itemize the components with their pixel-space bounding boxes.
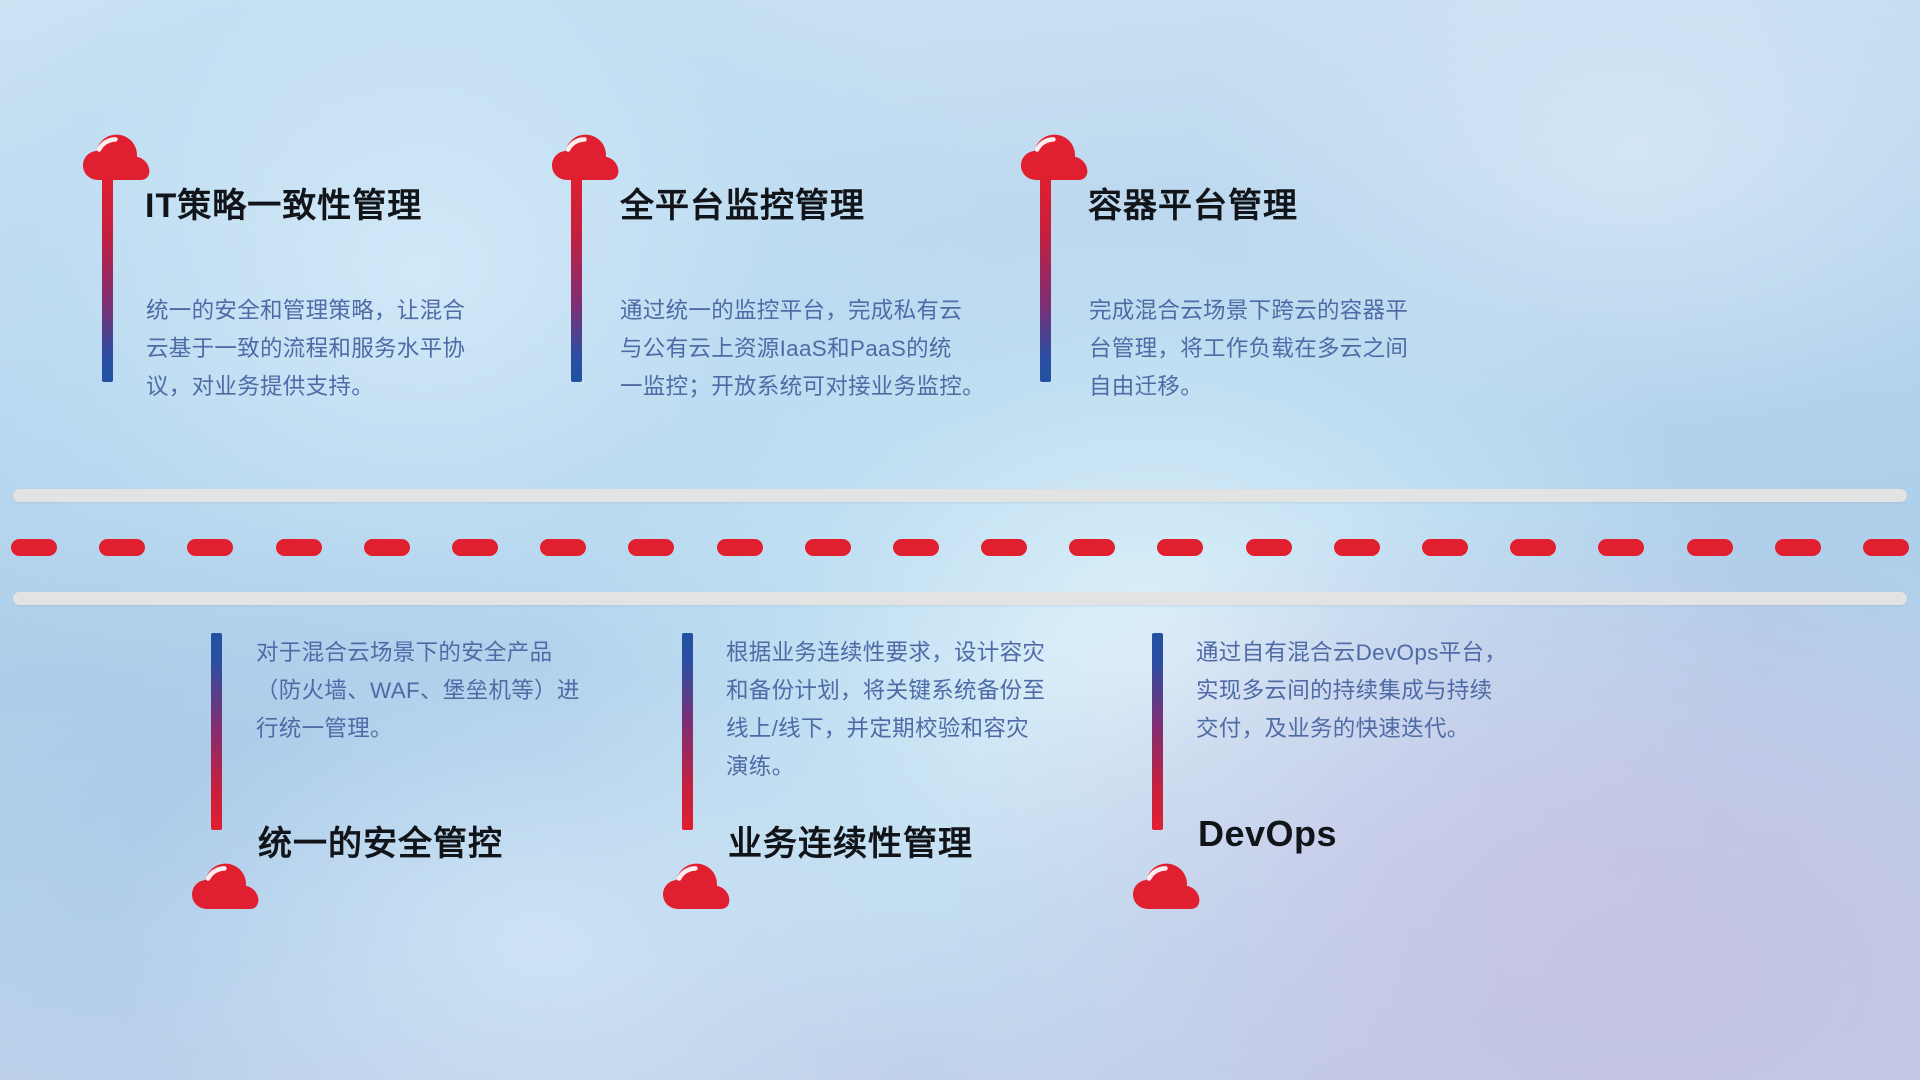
bottom-item-title: DevOps (1198, 813, 1337, 855)
road-dash (628, 539, 674, 556)
road-dash (11, 539, 57, 556)
road-dash (1422, 539, 1468, 556)
top-item-title: 容器平台管理 (1088, 178, 1298, 227)
road-dash (1510, 539, 1556, 556)
road-dash (187, 539, 233, 556)
road-dash (981, 539, 1027, 556)
top-item-description: 通过统一的监控平台，完成私有云 与公有云上资源IaaS和PaaS的统 一监控；开… (620, 292, 1015, 406)
connector-line (102, 176, 113, 382)
bottom-item-title: 业务连续性管理 (728, 816, 973, 865)
road-dash-strip (11, 539, 1909, 556)
road-dash (1157, 539, 1203, 556)
cloud-icon (1132, 862, 1202, 910)
road-dash (1775, 539, 1821, 556)
bottom-item-title: 统一的安全管控 (258, 816, 503, 865)
road-dash (893, 539, 939, 556)
top-item-description: 统一的安全和管理策略，让混合 云基于一致的流程和服务水平协 议，对业务提供支持。 (146, 292, 526, 406)
connector-line (1040, 176, 1051, 382)
road-dash (1069, 539, 1115, 556)
bottom-item-description: 对于混合云场景下的安全产品 （防火墙、WAF、堡垒机等）进 行统一管理。 (256, 634, 616, 748)
road-dash (364, 539, 410, 556)
road-dash (1334, 539, 1380, 556)
road-dash (276, 539, 322, 556)
road-dash (805, 539, 851, 556)
bottom-item-description: 根据业务连续性要求，设计容灾 和备份计划，将关键系统备份至 线上/线下，并定期校… (726, 634, 1096, 786)
cloud-icon (662, 862, 732, 910)
connector-line (211, 633, 222, 830)
road-rail-bottom (13, 592, 1907, 605)
road-dash (1246, 539, 1292, 556)
top-item-title: 全平台监控管理 (620, 178, 865, 227)
road-dash (540, 539, 586, 556)
top-item-description: 完成混合云场景下跨云的容器平 台管理，将工作负载在多云之间 自由迁移。 (1089, 292, 1469, 406)
road-dash (717, 539, 763, 556)
cloud-icon (191, 862, 261, 910)
road-rail-top (13, 489, 1907, 502)
cloud-icon (1020, 133, 1090, 181)
road-dash (1598, 539, 1644, 556)
connector-line (1152, 633, 1163, 830)
road-dash (1863, 539, 1909, 556)
cloud-icon (82, 133, 152, 181)
road-dash (99, 539, 145, 556)
connector-line (571, 176, 582, 382)
road-dash (1687, 539, 1733, 556)
bottom-item-description: 通过自有混合云DevOps平台， 实现多云间的持续集成与持续 交付，及业务的快速… (1196, 634, 1566, 748)
infographic-canvas: IT策略一致性管理 统一的安全和管理策略，让混合 云基于一致的流程和服务水平协 … (0, 0, 1920, 1080)
road-dash (452, 539, 498, 556)
top-item-title: IT策略一致性管理 (145, 178, 422, 227)
connector-line (682, 633, 693, 830)
road-divider (0, 489, 1920, 609)
cloud-icon (551, 133, 621, 181)
